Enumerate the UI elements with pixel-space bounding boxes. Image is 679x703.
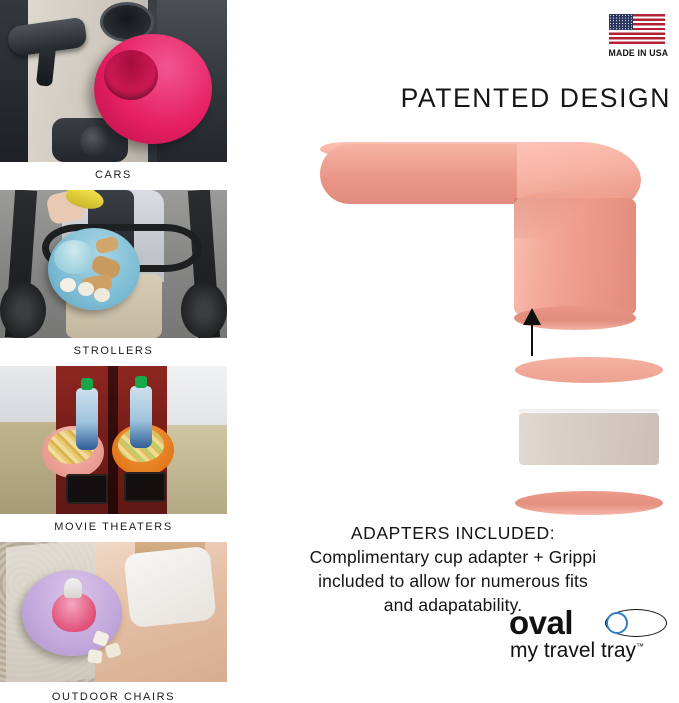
child-right bbox=[167, 366, 227, 514]
child-romper bbox=[123, 546, 216, 629]
use-case-label-outdoor-chairs: OUTDOOR CHAIRS bbox=[0, 682, 227, 703]
use-case-strollers: STROLLERS bbox=[0, 190, 227, 366]
trademark-symbol: ™ bbox=[636, 642, 644, 651]
grippi-band bbox=[519, 413, 659, 465]
adapter-base bbox=[515, 491, 663, 515]
flag-canton bbox=[609, 14, 633, 30]
page-title: PATENTED DESIGN bbox=[227, 83, 671, 114]
snack bbox=[87, 649, 103, 664]
seat-cup-holder-right bbox=[124, 472, 166, 502]
blue-circle-icon bbox=[606, 612, 628, 634]
arrow-shaft bbox=[531, 320, 533, 356]
marshmallow bbox=[60, 278, 76, 292]
purple-tray bbox=[22, 570, 122, 656]
marshmallow bbox=[94, 288, 110, 302]
pink-tray-in-car bbox=[94, 34, 212, 144]
brand-logo: oval my travel tray™ bbox=[509, 606, 669, 670]
movie-theaters-photo bbox=[0, 366, 227, 514]
up-arrow-icon bbox=[523, 308, 541, 356]
blue-tray-on-stroller bbox=[48, 228, 140, 310]
snack-bar bbox=[95, 235, 120, 254]
use-case-label-movie-theaters: MOVIE THEATERS bbox=[0, 514, 227, 542]
seat-cup-holder-left bbox=[66, 474, 108, 504]
logo-tagline: my travel tray™ bbox=[510, 639, 644, 663]
marshmallow bbox=[78, 282, 94, 296]
water-bottle-left bbox=[76, 388, 98, 450]
strollers-photo bbox=[0, 190, 227, 338]
use-case-label-cars: CARS bbox=[0, 162, 227, 190]
use-case-column: CARS STROLLERS bbox=[0, 0, 227, 692]
use-case-label-strollers: STROLLERS bbox=[0, 338, 227, 366]
adapters-included-text: ADAPTERS INCLUDED: Complimentary cup ada… bbox=[235, 521, 671, 617]
adapters-line-1: Complimentary cup adapter + Grippi bbox=[235, 545, 671, 569]
cars-photo bbox=[0, 0, 227, 162]
sippy-cup bbox=[52, 592, 96, 632]
oval-logo-mark bbox=[605, 609, 669, 639]
adapters-lead-line: ADAPTERS INCLUDED: bbox=[235, 521, 671, 545]
use-case-cars: CARS bbox=[0, 0, 227, 190]
made-in-usa-label: MADE IN USA bbox=[608, 48, 665, 59]
us-flag-icon bbox=[609, 14, 665, 44]
use-case-movie-theaters: MOVIE THEATERS bbox=[0, 366, 227, 542]
use-case-outdoor-chairs: OUTDOOR CHAIRS bbox=[0, 542, 227, 703]
outdoor-chairs-photo bbox=[0, 542, 227, 682]
adapters-line-2: included to allow for numerous fits bbox=[235, 569, 671, 593]
cup-adapter-illustration bbox=[227, 365, 679, 510]
stroller-wheel-left bbox=[0, 282, 46, 338]
logo-wordmark: oval bbox=[509, 606, 573, 640]
water-bottle-right bbox=[130, 386, 152, 448]
made-in-usa-badge: MADE IN USA bbox=[606, 14, 668, 59]
stroller-wheel-right bbox=[181, 282, 227, 338]
travel-tray-illustration bbox=[227, 130, 679, 330]
main-panel: MADE IN USA PATENTED DESIGN ADAPTERS INC… bbox=[227, 0, 679, 692]
logo-tagline-text: my travel tray bbox=[510, 639, 636, 662]
snack-cup bbox=[54, 240, 94, 274]
cup-holder-shadow bbox=[514, 198, 584, 238]
